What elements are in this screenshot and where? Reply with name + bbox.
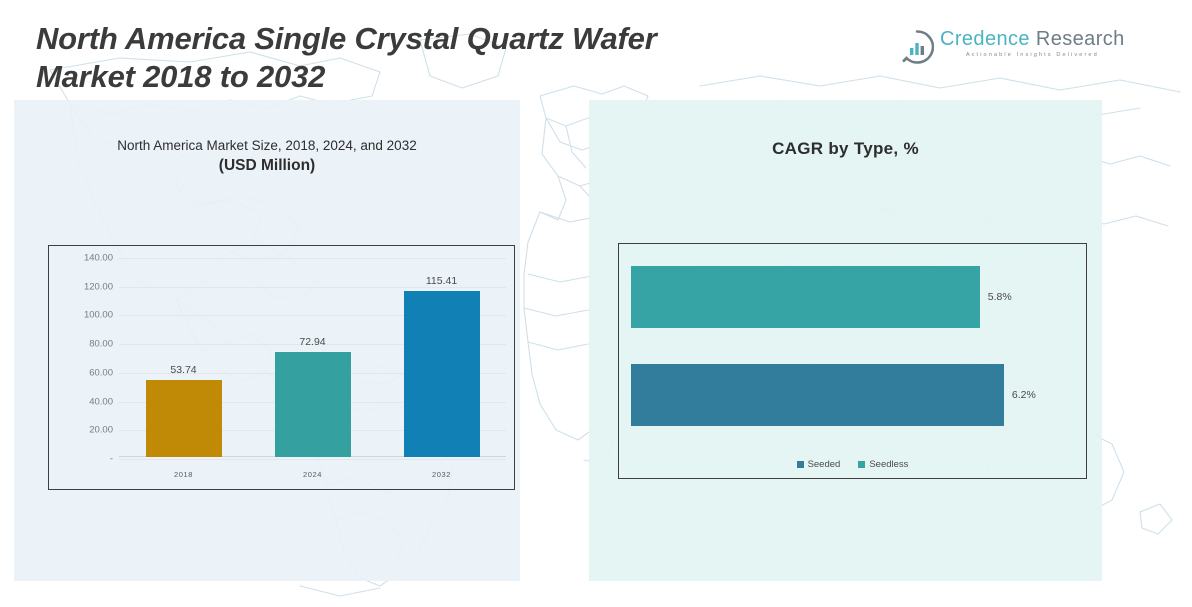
bar-value-label: 6.2%: [1012, 389, 1036, 401]
page-title: North America Single Crystal Quartz Wafe…: [36, 20, 836, 96]
left-plot-area: 140.00120.00100.0080.0060.0040.0020.00-5…: [49, 246, 514, 489]
bar-value-label: 72.94: [275, 336, 351, 348]
bar[interactable]: [631, 266, 980, 328]
logo-name-secondary: Research: [1036, 28, 1125, 50]
y-axis-tick-label: 60.00: [57, 367, 113, 378]
y-axis-tick-label: 140.00: [57, 253, 113, 264]
bar[interactable]: [275, 352, 351, 457]
horizontal-bar-row[interactable]: 5.8%: [631, 266, 1064, 328]
left-panel-heading: North America Market Size, 2018, 2024, a…: [14, 136, 520, 176]
left-heading-line-2: (USD Million): [14, 155, 520, 176]
title-line-2: Market 2018 to 2032: [36, 58, 836, 96]
bar-column[interactable]: 53.74: [146, 256, 222, 457]
legend-swatch: [858, 461, 865, 468]
y-axis-tick-label: 80.00: [57, 339, 113, 350]
y-axis-tick-label: 40.00: [57, 396, 113, 407]
right-plot-area: 5.8%6.2%SeededSeedless: [619, 244, 1086, 478]
legend-label: Seedless: [869, 459, 908, 470]
infographic-canvas: North America Single Crystal Quartz Wafe…: [0, 0, 1192, 607]
bar-value-label: 53.74: [146, 364, 222, 376]
right-panel-heading: CAGR by Type, %: [589, 139, 1102, 159]
bar[interactable]: [404, 291, 480, 457]
header: North America Single Crystal Quartz Wafe…: [0, 0, 1192, 100]
legend-swatch: [797, 461, 804, 468]
x-axis-category-label: 2018: [146, 470, 222, 479]
horizontal-bar-row[interactable]: 6.2%: [631, 364, 1064, 426]
legend-label: Seeded: [808, 459, 841, 470]
logo-name: Credence Research: [940, 28, 1125, 51]
bar-value-label: 115.41: [404, 275, 480, 287]
x-axis-category-label: 2024: [275, 470, 351, 479]
y-axis-tick-label: -: [57, 454, 113, 465]
bar[interactable]: [146, 380, 222, 457]
y-axis-tick-label: 120.00: [57, 281, 113, 292]
bar-value-label: 5.8%: [988, 291, 1012, 303]
bar-column[interactable]: 72.94: [275, 256, 351, 457]
brand-logo: Credence Research Actionable Insights De…: [900, 28, 1100, 70]
logo-text: Credence Research Actionable Insights De…: [940, 28, 1125, 58]
y-axis-tick-label: 100.00: [57, 310, 113, 321]
gridline: [119, 459, 506, 460]
title-line-1: North America Single Crystal Quartz Wafe…: [36, 20, 836, 58]
left-heading-line-1: North America Market Size, 2018, 2024, a…: [14, 136, 520, 155]
chart-circle-logo-icon: [900, 30, 934, 64]
logo-tagline: Actionable Insights Delivered: [940, 52, 1125, 58]
market-size-bar-chart: 140.00120.00100.0080.0060.0040.0020.00-5…: [48, 245, 515, 490]
legend-item[interactable]: Seedless: [858, 459, 908, 470]
legend-item[interactable]: Seeded: [797, 459, 841, 470]
x-axis-category-label: 2032: [404, 470, 480, 479]
cagr-by-type-bar-chart: 5.8%6.2%SeededSeedless: [618, 243, 1087, 479]
logo-name-primary: Credence: [940, 28, 1030, 50]
bar[interactable]: [631, 364, 1004, 426]
chart-legend: SeededSeedless: [619, 459, 1086, 470]
bar-group: 53.7472.94115.41: [119, 258, 504, 457]
y-axis-tick-label: 20.00: [57, 425, 113, 436]
bar-column[interactable]: 115.41: [404, 256, 480, 457]
